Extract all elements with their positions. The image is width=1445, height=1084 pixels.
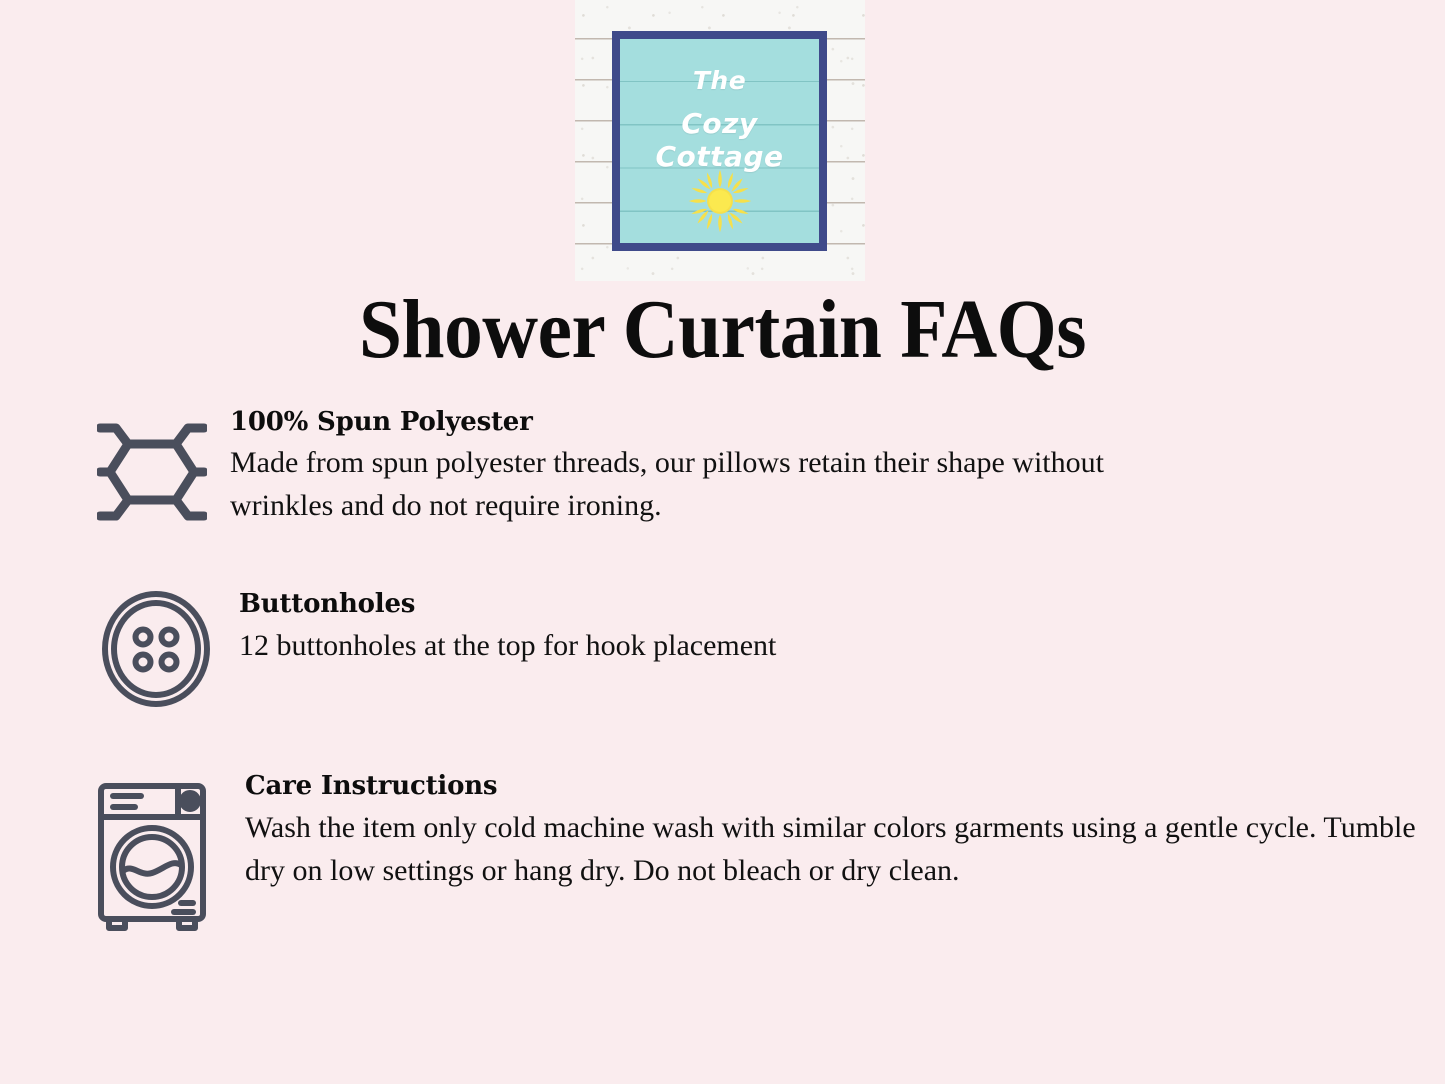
sign-panel: The Cozy Cottage: [620, 39, 819, 243]
faq-body: Wash the item only cold machine wash wit…: [245, 806, 1435, 892]
faq-body: Made from spun polyester threads, our pi…: [230, 441, 1160, 527]
faq-heading: Buttonholes: [239, 590, 1445, 618]
brand-logo: The Cozy Cottage: [575, 0, 865, 281]
page-title: Shower Curtain FAQs: [58, 288, 1387, 372]
faq-list: 100% Spun Polyester Made from spun polye…: [0, 408, 1445, 933]
faq-text-block: 100% Spun Polyester Made from spun polye…: [230, 408, 1445, 527]
fabric-mesh-icon: [88, 408, 216, 524]
faq-heading: Care Instructions: [245, 772, 1445, 800]
logo-line-the: The: [620, 66, 819, 95]
washing-machine-icon: [88, 772, 216, 933]
logo-line-cozy-cottage: Cozy Cottage: [620, 107, 819, 173]
faq-text-block: Buttonholes 12 buttonholes at the top fo…: [239, 590, 1445, 666]
faq-item-care-instructions: Care Instructions Wash the item only col…: [88, 772, 1445, 933]
sign-frame: The Cozy Cottage: [612, 31, 827, 251]
faq-heading: 100% Spun Polyester: [230, 408, 1445, 436]
button-icon: [95, 590, 216, 708]
sun-icon: [686, 167, 754, 235]
faq-item-buttonholes: Buttonholes 12 buttonholes at the top fo…: [95, 590, 1445, 708]
faq-text-block: Care Instructions Wash the item only col…: [245, 772, 1445, 891]
faq-item-spun-polyester: 100% Spun Polyester Made from spun polye…: [88, 408, 1445, 527]
faq-body: 12 buttonholes at the top for hook place…: [239, 624, 1139, 667]
